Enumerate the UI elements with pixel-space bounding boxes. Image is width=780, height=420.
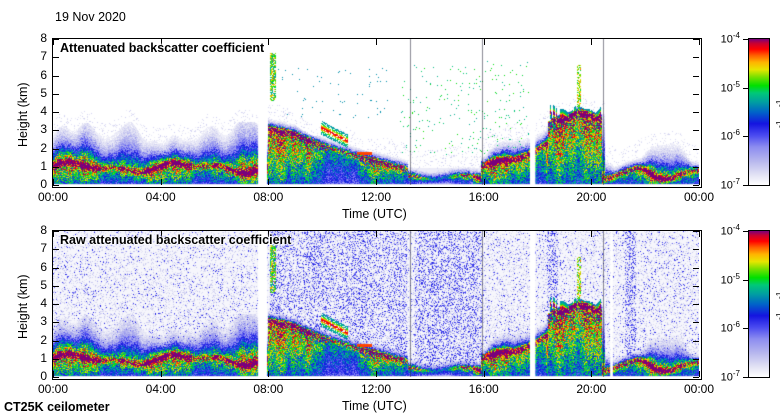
y-tick [53,249,59,250]
y-tick [693,377,699,378]
x-tick [699,179,700,185]
colorbar-tick [743,328,748,329]
x-tick [591,371,592,377]
colorbar-tick-label: 10-4 [706,31,740,46]
y-tick [53,112,59,113]
x-tick-label: 16:00 [454,382,514,396]
x-tick [376,179,377,185]
x-tick-label: 20:00 [561,190,621,204]
y-tick [53,304,59,305]
y-tick-label: 7 [25,241,47,255]
panel-title-bottom: Raw attenuated backscatter coefficient [60,233,291,247]
colorbar-tick [743,136,748,137]
x-tick-label: 00:00 [23,382,83,396]
colorbar-tick-label: 10-5 [706,80,740,95]
y-tick [693,76,699,77]
date-label: 19 Nov 2020 [55,10,126,24]
x-tick [268,179,269,185]
x-axis-title-top: Time (UTC) [342,207,407,221]
x-tick-label: 04:00 [131,190,191,204]
y-tick [53,57,59,58]
colorbar-tick-label: 10-4 [706,223,740,238]
y-tick [693,268,699,269]
x-tick [484,371,485,377]
x-tick-label: 08:00 [238,190,298,204]
x-tick [591,179,592,185]
y-tick [53,268,59,269]
colorbar-tick [743,377,748,378]
y-tick [693,94,699,95]
x-tick-label: 00:00 [23,190,83,204]
y-tick [693,57,699,58]
y-tick-label: 8 [25,223,47,237]
x-tick [376,39,377,45]
colorbar-tick-label: 10-6 [706,128,740,143]
y-tick [53,377,59,378]
x-tick [699,371,700,377]
y-tick-label: 0 [25,177,47,191]
y-tick [53,322,59,323]
y-tick [693,359,699,360]
y-tick [693,130,699,131]
x-tick-label: 04:00 [131,382,191,396]
x-tick [268,39,269,45]
colorbar-bottom [748,230,770,378]
heatmap-top [53,39,699,185]
y-tick [693,322,699,323]
y-tick-label: 1 [25,159,47,173]
colorbar-title-top: m-1 sr-1 [774,100,780,138]
y-tick-label: 1 [25,351,47,365]
y-tick-label: 6 [25,260,47,274]
panel-title-top: Attenuated backscatter coefficient [60,41,264,55]
y-tick [53,167,59,168]
x-tick [591,231,592,237]
y-axis-title-bottom: Height (km) [16,274,30,339]
x-tick [699,39,700,45]
y-tick [53,341,59,342]
x-tick [268,371,269,377]
x-tick-label: 00:00 [669,190,729,204]
panel-raw-attenuated-backscatter: Raw attenuated backscatter coefficient [52,230,702,380]
y-tick-label: 6 [25,68,47,82]
y-tick [693,341,699,342]
y-tick-label: 0 [25,369,47,383]
x-axis-title-bottom: Time (UTC) [342,399,407,413]
x-tick [161,371,162,377]
x-tick-label: 12:00 [346,382,406,396]
colorbar-tick [743,88,748,89]
y-tick [693,185,699,186]
x-tick [53,231,54,237]
x-tick [376,371,377,377]
x-tick-label: 00:00 [669,382,729,396]
x-tick [484,231,485,237]
x-tick-label: 16:00 [454,190,514,204]
instrument-label: CT25K ceilometer [4,400,110,414]
y-tick-label: 7 [25,49,47,63]
x-tick [53,39,54,45]
colorbar-tick [743,231,748,232]
x-tick [161,179,162,185]
heatmap-bottom [53,231,699,377]
x-tick-label: 12:00 [346,190,406,204]
y-tick [53,130,59,131]
colorbar-tick-label: 10-7 [706,177,740,192]
x-tick [484,39,485,45]
y-tick [53,94,59,95]
x-tick-label: 08:00 [238,382,298,396]
x-tick [376,231,377,237]
ceilometer-figure: 19 Nov 2020 Attenuated backscatter coeff… [0,0,780,420]
y-axis-title-top: Height (km) [16,82,30,147]
x-tick [53,179,54,185]
colorbar-title-bottom: m-1 sr-1 [774,292,780,330]
y-tick [693,167,699,168]
y-tick [693,304,699,305]
y-tick [53,185,59,186]
panel-attenuated-backscatter: Attenuated backscatter coefficient [52,38,702,188]
y-tick [53,359,59,360]
y-tick [53,286,59,287]
y-tick-label: 8 [25,31,47,45]
colorbar-tick-label: 10-5 [706,272,740,287]
colorbar-tick [743,185,748,186]
x-tick [591,39,592,45]
y-tick [53,76,59,77]
x-tick [699,231,700,237]
y-tick [693,112,699,113]
y-tick [693,249,699,250]
colorbar-tick [743,280,748,281]
colorbar-tick [743,39,748,40]
colorbar-tick-label: 10-6 [706,320,740,335]
x-tick-label: 20:00 [561,382,621,396]
y-tick [693,149,699,150]
y-tick [53,149,59,150]
x-tick [53,371,54,377]
colorbar-top [748,38,770,186]
colorbar-tick-label: 10-7 [706,369,740,384]
y-tick [693,286,699,287]
x-tick [484,179,485,185]
